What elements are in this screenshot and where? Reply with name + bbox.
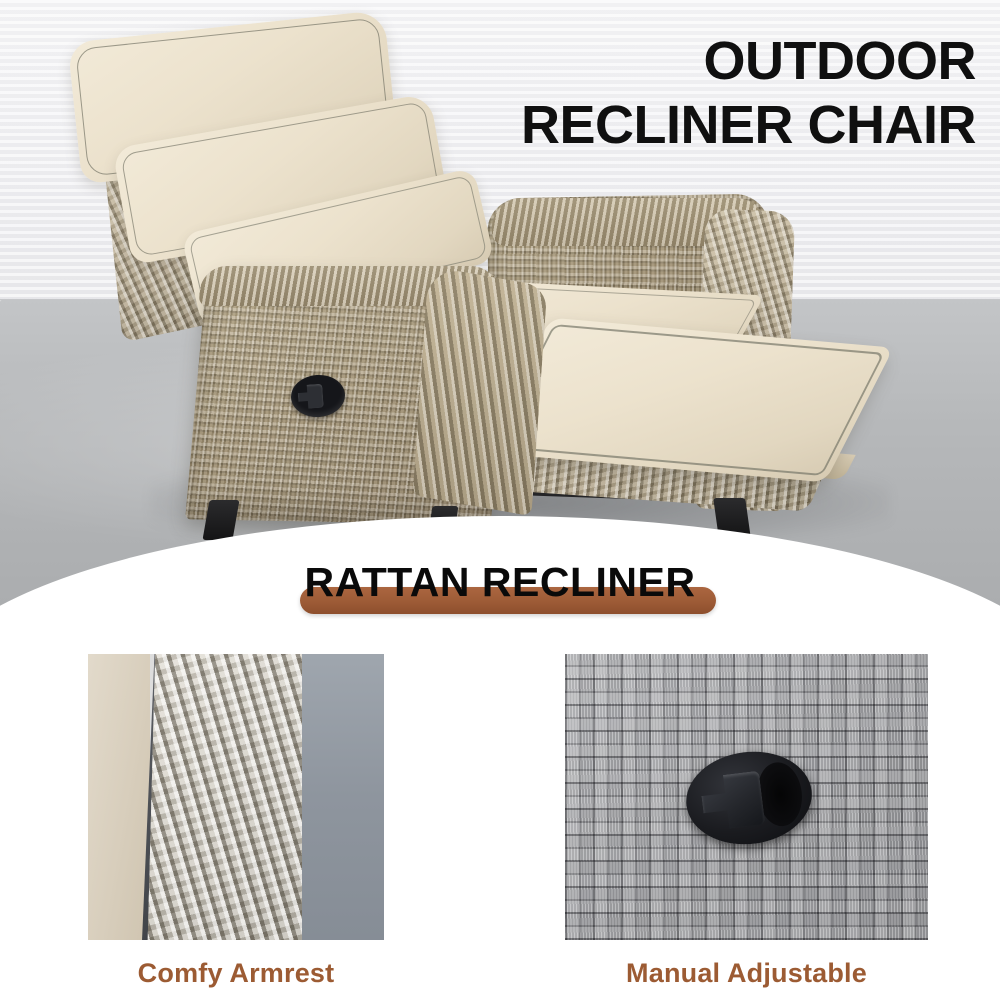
- feature-caption-manual-adjustable: Manual Adjustable: [565, 958, 928, 989]
- footrest-cushion-piping: [491, 324, 884, 476]
- footrest-cushion: [482, 318, 893, 483]
- feature-thumbnail-comfy-armrest: [88, 654, 384, 940]
- headline-line-1: OUTDOOR: [521, 34, 976, 88]
- floor-detail-left: [302, 654, 384, 940]
- rope-weave-detail: [148, 654, 315, 940]
- recline-lever-icon: [297, 384, 324, 410]
- page-title: OUTDOOR RECLINER CHAIR: [521, 34, 976, 152]
- feature-caption-comfy-armrest: Comfy Armrest: [88, 958, 384, 989]
- near-armrest-roll: [413, 266, 548, 516]
- product-infographic: OUTDOOR RECLINER CHAIR RATTAN RECLINER C…: [0, 0, 1000, 1000]
- handle-lever-icon: [699, 771, 765, 832]
- armrest-cushion-detail: [88, 654, 150, 940]
- headline-line-2: RECLINER CHAIR: [521, 98, 976, 152]
- section-title: RATTAN RECLINER: [0, 559, 1000, 606]
- feature-thumbnail-manual-adjustable: [565, 654, 928, 940]
